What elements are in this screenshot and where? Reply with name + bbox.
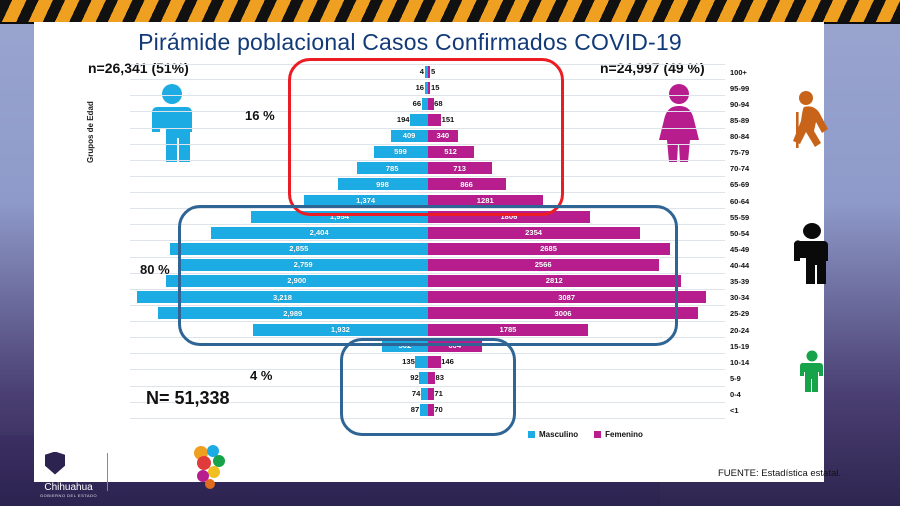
adult-percent-annotation: 80 % [140, 262, 170, 277]
bar-male[interactable]: 194 [410, 114, 427, 126]
bar-value-label: 866 [460, 181, 473, 189]
slogan-con: con [239, 468, 266, 485]
bar-value-label: 2354 [525, 229, 542, 237]
bar-male[interactable]: 409 [391, 130, 428, 142]
bar-female[interactable]: 1281 [428, 195, 543, 207]
age-tick-label: 60-64 [730, 193, 778, 209]
bar-female[interactable]: 3006 [428, 307, 699, 319]
male-half: 66 [130, 96, 428, 111]
female-half: 1806 [428, 209, 726, 224]
bar-value-label: 998 [376, 181, 389, 189]
female-half: 151 [428, 112, 726, 127]
bar-value-label: 409 [403, 132, 416, 140]
female-half: 604 [428, 338, 726, 353]
bar-value-label: 599 [394, 148, 407, 156]
bar-value-label: 92 [410, 374, 418, 382]
age-tick-label: 25-29 [730, 306, 778, 322]
bar-male[interactable]: 2,989 [158, 307, 427, 319]
age-tick-label: 45-49 [730, 241, 778, 257]
female-half: 2354 [428, 225, 726, 240]
bar-male[interactable]: 2,404 [211, 227, 428, 239]
bar-female[interactable]: 866 [428, 178, 506, 190]
chart-legend: Masculino Femenino [528, 430, 643, 439]
state-name: Chihuahua [40, 482, 97, 493]
child-percent-annotation: 4 % [250, 368, 272, 383]
bar-value-label: 5 [431, 68, 435, 76]
bar-female[interactable]: 15 [428, 82, 431, 94]
bar-female[interactable]: 5 [428, 66, 431, 78]
bar-male[interactable]: 74 [421, 388, 428, 400]
bar-value-label: 2,855 [289, 245, 308, 253]
age-tick-label: 100+ [730, 64, 778, 80]
bar-male[interactable]: 87 [420, 404, 428, 416]
female-half: 5 [428, 65, 726, 79]
bar-male[interactable]: 1,954 [251, 211, 427, 223]
pyramid-row: 2,7592566 [130, 258, 725, 274]
page-title: Pirámide poblacional Casos Confirmados C… [100, 29, 720, 56]
child-person-icon [798, 350, 826, 392]
bar-value-label: 87 [411, 406, 419, 414]
male-half: 16 [130, 80, 428, 95]
bar-female[interactable]: 604 [428, 340, 482, 352]
age-tick-label: 90-94 [730, 96, 778, 112]
elderly-person-cane-icon [790, 90, 838, 152]
secretaria-line-1: SECRETARÍA [118, 462, 169, 470]
bar-value-label: 713 [453, 165, 466, 173]
pyramid-row: 45 [130, 64, 725, 80]
bar-value-label: 4 [420, 68, 424, 76]
bar-value-label: 3,218 [273, 294, 292, 302]
female-half: 2566 [428, 258, 726, 273]
pyramid-row: 2,8552685 [130, 241, 725, 257]
bar-male[interactable]: 3,218 [137, 291, 427, 303]
bar-female[interactable]: 146 [428, 356, 441, 368]
age-tick-label: 15-19 [730, 338, 778, 354]
age-tick-label: 95-99 [730, 80, 778, 96]
female-half: 713 [428, 161, 726, 176]
bar-female[interactable]: 512 [428, 146, 474, 158]
age-tick-label: 80-84 [730, 129, 778, 145]
age-tick-label: 20-24 [730, 322, 778, 338]
bar-value-label: 1,954 [330, 213, 349, 221]
bar-value-label: 2,989 [283, 310, 302, 318]
age-tick-label: 10-14 [730, 354, 778, 370]
age-tick-label: <1 [730, 403, 778, 419]
age-tick-label: 75-79 [730, 145, 778, 161]
age-tick-label: 55-59 [730, 209, 778, 225]
bar-male[interactable]: 2,900 [166, 275, 427, 287]
secretaria-de-salud-logo: SECRETARÍA DE SALUD [118, 462, 169, 481]
age-tick-label: 35-39 [730, 274, 778, 290]
pyramid-row: 502604 [130, 338, 725, 354]
pyramid-row: 1,9541806 [130, 209, 725, 225]
bar-value-label: 70 [434, 406, 442, 414]
female-half: 70 [428, 403, 726, 418]
age-tick-label: 5-9 [730, 370, 778, 386]
bar-male[interactable]: 1,932 [253, 324, 427, 336]
bar-male[interactable]: 1,374 [304, 195, 428, 207]
male-half: 2,759 [130, 258, 428, 273]
bar-value-label: 151 [442, 116, 455, 124]
bar-value-label: 1806 [500, 213, 517, 221]
bar-value-label: 2685 [540, 245, 557, 253]
male-half: 502 [130, 338, 428, 353]
legend-swatch-female [594, 431, 601, 438]
male-half: 2,989 [130, 306, 428, 321]
elderly-percent-annotation: 16 % [245, 108, 275, 123]
male-half: 599 [130, 145, 428, 160]
hazard-stripe-banner [0, 0, 900, 24]
male-half: 92 [130, 370, 428, 385]
age-tick-label: 65-69 [730, 177, 778, 193]
overall-total-label: N= 51,338 [146, 388, 230, 409]
legend-item-femenino: Femenino [594, 430, 643, 439]
bar-value-label: 1,932 [331, 326, 350, 334]
bar-male[interactable]: 92 [419, 372, 427, 384]
age-tick-label: 40-44 [730, 258, 778, 274]
bar-value-label: 15 [431, 84, 439, 92]
source-note: FUENTE: Estadística estatal. [718, 468, 841, 479]
pyramid-row: 1615 [130, 80, 725, 96]
male-half: 2,404 [130, 225, 428, 240]
bar-female[interactable]: 2354 [428, 227, 640, 239]
female-half: 146 [428, 354, 726, 369]
bar-value-label: 194 [397, 116, 410, 124]
bar-male[interactable]: 599 [374, 146, 428, 158]
bar-value-label: 3006 [555, 310, 572, 318]
bar-value-label: 2566 [535, 261, 552, 269]
pyramid-row: 2,9893006 [130, 306, 725, 322]
adult-person-icon [792, 222, 832, 284]
chihuahua-map-icon [188, 444, 232, 492]
legend-swatch-male [528, 431, 535, 438]
bar-female[interactable]: 1785 [428, 324, 589, 336]
pyramid-row: 2,4042354 [130, 225, 725, 241]
bar-female[interactable]: 340 [428, 130, 459, 142]
bar-male[interactable]: 998 [338, 178, 428, 190]
male-half: 1,374 [130, 193, 428, 208]
bar-value-label: 2,759 [294, 261, 313, 269]
male-half: 1,954 [130, 209, 428, 224]
bar-male[interactable]: 135 [415, 356, 427, 368]
pyramid-row: 3,2183087 [130, 290, 725, 306]
male-half: 2,855 [130, 241, 428, 256]
bar-female[interactable]: 3087 [428, 291, 706, 303]
bar-female[interactable]: 71 [428, 388, 434, 400]
unidos-con-valor-logo: UNIDOS conVALOR [188, 444, 322, 492]
bar-value-label: 1,374 [356, 197, 375, 205]
age-tick-label: 50-54 [730, 225, 778, 241]
female-half: 68 [428, 96, 726, 111]
legend-label-female: Femenino [605, 430, 643, 439]
male-half: 135 [130, 354, 428, 369]
pyramid-row: 409340 [130, 129, 725, 145]
male-half: 998 [130, 177, 428, 192]
bar-value-label: 83 [435, 374, 443, 382]
chihuahua-government-logo: Chihuahua GOBIERNO DEL ESTADO SECRETARÍA… [40, 446, 169, 498]
slogan-unidos: UNIDOS [239, 452, 322, 469]
legend-item-masculino: Masculino [528, 430, 578, 439]
bar-value-label: 604 [448, 342, 461, 350]
population-pyramid-plot: 4516156668194151409340599512785713998866… [130, 64, 725, 419]
bar-value-label: 1785 [500, 326, 517, 334]
female-half: 512 [428, 145, 726, 160]
female-half: 83 [428, 370, 726, 385]
state-subtitle: GOBIERNO DEL ESTADO [40, 493, 97, 498]
secretaria-line-2: DE SALUD [118, 470, 169, 481]
bar-female[interactable]: 2566 [428, 259, 659, 271]
bar-female[interactable]: 70 [428, 404, 434, 416]
age-tick-label: 30-34 [730, 290, 778, 306]
bar-value-label: 1281 [477, 197, 494, 205]
bar-value-label: 66 [413, 100, 421, 108]
age-tick-label: 70-74 [730, 161, 778, 177]
bar-female[interactable]: 2685 [428, 243, 670, 255]
male-half: 4 [130, 65, 428, 79]
pyramid-row: 785713 [130, 161, 725, 177]
pyramid-row: 2,9002812 [130, 274, 725, 290]
male-half: 1,932 [130, 322, 428, 337]
bar-value-label: 2,900 [287, 277, 306, 285]
male-half: 409 [130, 129, 428, 144]
female-half: 340 [428, 129, 726, 144]
male-half: 2,900 [130, 274, 428, 289]
male-half: 194 [130, 112, 428, 127]
female-half: 3087 [428, 290, 726, 305]
male-half: 785 [130, 161, 428, 176]
bar-value-label: 3087 [558, 294, 575, 302]
bar-value-label: 74 [412, 390, 420, 398]
bar-male[interactable]: 2,759 [179, 259, 428, 271]
female-half: 1281 [428, 193, 726, 208]
bar-value-label: 68 [434, 100, 442, 108]
bar-male[interactable]: 2,855 [170, 243, 427, 255]
pyramid-row: 9283 [130, 370, 725, 386]
female-half: 71 [428, 387, 726, 402]
bar-female[interactable]: 713 [428, 162, 492, 174]
bar-value-label: 135 [402, 358, 415, 366]
female-half: 2812 [428, 274, 726, 289]
bar-value-label: 146 [441, 358, 454, 366]
female-half: 2685 [428, 241, 726, 256]
female-half: 3006 [428, 306, 726, 321]
slogan-valor: VALOR [266, 468, 322, 485]
legend-label-male: Masculino [539, 430, 578, 439]
pyramid-row: 998866 [130, 177, 725, 193]
bar-male[interactable]: 785 [357, 162, 428, 174]
bar-value-label: 785 [386, 165, 399, 173]
age-tick-label: 0-4 [730, 387, 778, 403]
y-axis-label: Grupos de Edad [86, 73, 95, 163]
bar-value-label: 71 [434, 390, 442, 398]
bar-male[interactable]: 502 [382, 340, 427, 352]
pyramid-row: 194151 [130, 112, 725, 128]
bar-value-label: 512 [444, 148, 457, 156]
female-half: 15 [428, 80, 726, 95]
pyramid-row: 135146 [130, 354, 725, 370]
shield-icon [40, 446, 70, 480]
bar-female[interactable]: 2812 [428, 275, 682, 287]
female-half: 1785 [428, 322, 726, 337]
male-half: 3,218 [130, 290, 428, 305]
age-group-axis: 100+95-9990-9485-8980-8475-7970-7465-696… [730, 64, 778, 419]
bar-value-label: 502 [399, 342, 412, 350]
pyramid-row: 6668 [130, 96, 725, 112]
bar-value-label: 2812 [546, 277, 563, 285]
pyramid-row: 599512 [130, 145, 725, 161]
logo-divider [107, 453, 108, 491]
bar-value-label: 340 [436, 132, 449, 140]
age-tick-label: 85-89 [730, 112, 778, 128]
female-half: 866 [428, 177, 726, 192]
bar-value-label: 16 [416, 84, 424, 92]
bar-female[interactable]: 151 [428, 114, 442, 126]
bar-female[interactable]: 1806 [428, 211, 591, 223]
pyramid-row: 1,9321785 [130, 322, 725, 338]
bar-female[interactable]: 83 [428, 372, 435, 384]
bar-female[interactable]: 68 [428, 98, 434, 110]
bar-value-label: 2,404 [310, 229, 329, 237]
pyramid-row: 1,3741281 [130, 193, 725, 209]
